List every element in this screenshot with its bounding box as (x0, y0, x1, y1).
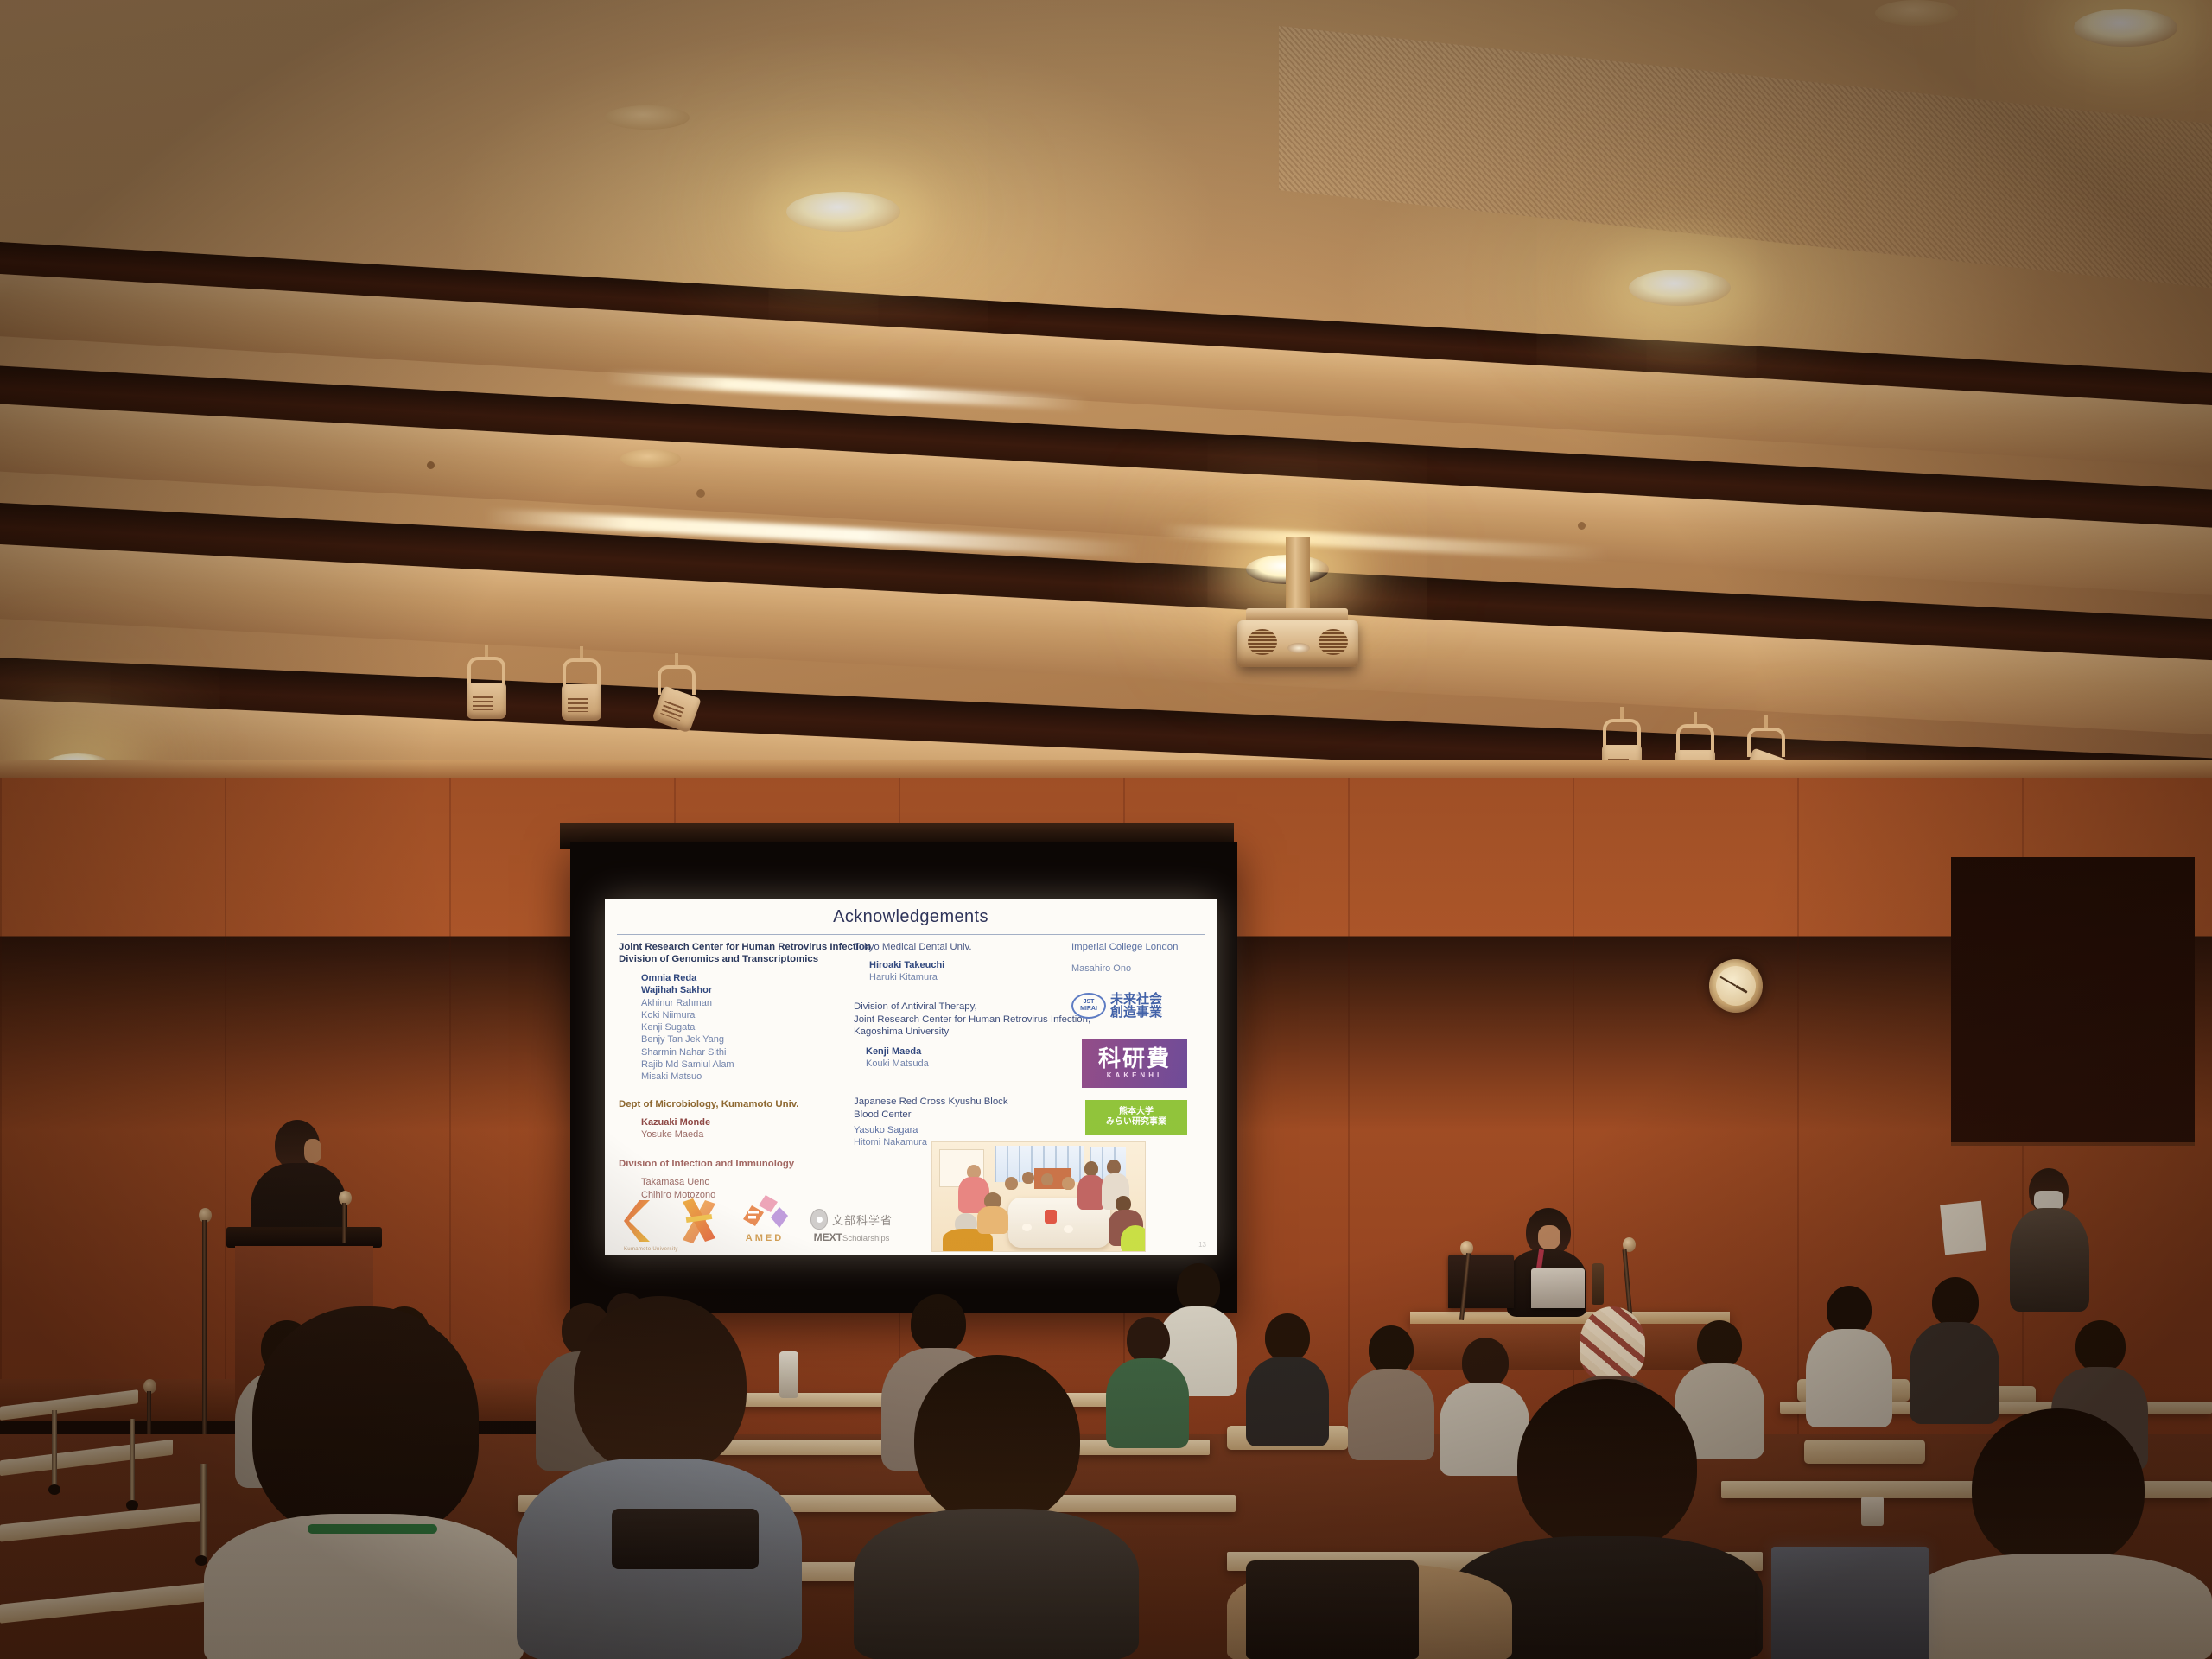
person-name: Kenji Sugata (641, 1021, 850, 1033)
mext-seal-icon (810, 1209, 828, 1230)
person-name: Kazuaki Monde (641, 1116, 850, 1128)
lanyard (308, 1524, 437, 1534)
audience-member-foreground (854, 1355, 1139, 1659)
person-name: Akhinur Rahman (641, 997, 850, 1009)
affiliation-heading: Dept of Microbiology, Kumamoto Univ. (619, 1098, 850, 1111)
slide-title-rule (617, 934, 1205, 935)
audience-head (2075, 1320, 2126, 1372)
photo-green-chair (1121, 1225, 1146, 1252)
audience-head (911, 1294, 966, 1353)
affiliation-heading: Japanese Red Cross Kyushu Block (854, 1096, 1070, 1109)
mext-acronym: MEXT (814, 1231, 842, 1243)
presentation-slide: Acknowledgements Joint Research Center f… (605, 899, 1217, 1255)
audience-member (1910, 1277, 1999, 1422)
audience-head (1369, 1325, 1414, 1374)
audience-hair-long (252, 1306, 479, 1538)
slide-column-middle: Tokyo Medical Dental Univ. Hiroaki Takeu… (854, 941, 1070, 1149)
affiliation-block: Tokyo Medical Dental Univ. Hiroaki Takeu… (854, 941, 1070, 983)
amed-mark-icon (741, 1193, 788, 1231)
person-name: Yosuke Maeda (641, 1128, 850, 1141)
affiliation-heading: Blood Center (854, 1109, 1070, 1122)
desk-leg (130, 1419, 135, 1503)
session-chair-face (1538, 1225, 1560, 1249)
audience-member-foreground (1910, 1408, 2212, 1659)
laptop-silver-lid (1531, 1268, 1585, 1308)
podium-microphone-stand (342, 1203, 346, 1243)
audience-member-foreground (517, 1296, 802, 1659)
audience-torso (204, 1514, 524, 1659)
jst-mirai-logo: JST MIRAI 未来社会 創造事業 (1071, 993, 1162, 1019)
affiliation-heading: Imperial College London (1071, 941, 1217, 954)
downlight-9-dim (620, 449, 681, 468)
mext-kanji: 文部科学省 (832, 1211, 893, 1228)
downlight-2 (786, 192, 900, 232)
photo-person (1041, 1173, 1053, 1185)
jst-kanji-line2: 創造事業 (1110, 1006, 1162, 1019)
standing-attendee-mask (2034, 1191, 2063, 1210)
cup-on-desk (1861, 1497, 1884, 1526)
track-spotlight-3 (657, 665, 696, 734)
person-name: Masahiro Ono (1071, 963, 1217, 975)
audience-head (1517, 1379, 1697, 1552)
photo-table-items (1064, 1225, 1073, 1233)
projector-vent-right (1319, 629, 1348, 655)
kakenhi-logo: 科研費 KAKENHI (1082, 1039, 1187, 1088)
podium-top (226, 1227, 382, 1248)
audience-head (1827, 1286, 1872, 1334)
audience-head (914, 1355, 1080, 1524)
photo-table-items (1022, 1224, 1032, 1231)
affiliation-heading: Division of Infection and Immunology (619, 1158, 850, 1171)
audience-head (1177, 1263, 1220, 1312)
mext-scholarships: Scholarships (842, 1234, 889, 1243)
kumamoto-university-caption: Kumamoto University (624, 1247, 678, 1252)
photo-person (1022, 1172, 1034, 1184)
slide-title: Acknowledgements (605, 907, 1217, 927)
sprinkler-head-1 (696, 489, 705, 498)
affiliation-block: Dept of Microbiology, Kumamoto Univ. Kaz… (619, 1098, 850, 1141)
downlight-1 (2074, 9, 2177, 47)
headscarf (1580, 1306, 1645, 1381)
downlight-7-dim (1875, 0, 1958, 26)
mext-logo: 文部科学省 MEXTScholarships (810, 1209, 893, 1243)
photo-person-body (977, 1206, 1008, 1234)
affiliation-heading: Joint Research Center for Human Retrovir… (854, 1014, 1070, 1027)
photo-person (1005, 1177, 1018, 1190)
person-name: Yasuko Sagara (854, 1124, 1070, 1136)
standing-attendee-torso (2010, 1208, 2089, 1312)
person-name: Misaki Matsuo (641, 1071, 850, 1083)
funder-logo-row: AMED 文部科学省 MEXTScholarships (624, 1193, 893, 1243)
audience-head (1265, 1313, 1310, 1362)
slide-column-right: Imperial College London Masahiro Ono (1071, 941, 1217, 975)
kumamoto-chevron-logo-icon (624, 1198, 657, 1243)
laptop-dark-lid (1448, 1255, 1514, 1308)
amed-logo: AMED (741, 1193, 788, 1243)
jst-acronym-line2: MIRAI (1080, 1006, 1097, 1013)
wall-clock (1709, 959, 1763, 1013)
ceiling-projector (1237, 605, 1358, 671)
group-photo (931, 1141, 1146, 1252)
bottle-on-desk (779, 1351, 798, 1398)
affiliation-block: Division of Antiviral Therapy, Joint Res… (854, 1001, 1070, 1070)
desk-caster (126, 1500, 138, 1510)
audience-member (1806, 1286, 1892, 1426)
alcove-rail (1951, 1142, 2195, 1146)
amed-label: AMED (746, 1233, 784, 1243)
kakenhi-kanji: 科研費 (1098, 1048, 1171, 1071)
audience-member-foreground (204, 1306, 524, 1659)
audience-torso (1806, 1329, 1892, 1427)
audience-torso (1910, 1554, 2212, 1659)
projector-vent-left (1248, 629, 1277, 655)
audience-torso (854, 1509, 1139, 1659)
audience-laptop-open (1771, 1547, 1929, 1659)
person-name: Kouki Matsuda (866, 1058, 1070, 1070)
person-name: Wajihah Sakhor (641, 984, 850, 996)
standing-attendee (2010, 1168, 2089, 1315)
projector-mount-pole (1286, 537, 1310, 612)
presenter-face (304, 1139, 321, 1163)
kumamoto-x-logo-icon (679, 1198, 719, 1243)
standing-attendee-document (1940, 1201, 1986, 1255)
shoulder-bag (1246, 1560, 1419, 1659)
laptop-silver (1531, 1268, 1585, 1308)
chair-back (1804, 1440, 1925, 1464)
laptop-dark (1448, 1255, 1514, 1308)
affiliation-block: Joint Research Center for Human Retrovir… (619, 941, 850, 1084)
photo-person (1084, 1161, 1098, 1176)
audience-head (1932, 1277, 1979, 1327)
mext-en-label: MEXTScholarships (814, 1231, 890, 1243)
desk-leg (52, 1410, 57, 1488)
kumamoto-mirai-line2: みらい研究事業 (1106, 1117, 1166, 1128)
audience-head (1697, 1320, 1742, 1369)
person-name: Kenji Maeda (866, 1046, 1070, 1058)
jst-mirai-ring-icon: JST MIRAI (1071, 993, 1106, 1019)
person-name: Hiroaki Takeuchi (869, 959, 1070, 971)
track-spotlight-1 (467, 657, 506, 726)
person-name: Sharmin Nahar Sithi (641, 1046, 850, 1058)
affiliation-heading: Division of Genomics and Transcriptomics (619, 953, 850, 965)
lecture-hall-scene: Acknowledgements Joint Research Center f… (0, 0, 2212, 1659)
person-name: Omnia Reda (641, 972, 850, 984)
slide-column-left: Joint Research Center for Human Retrovir… (619, 941, 850, 1201)
kumamoto-mirai-badge: 熊本大学 みらい研究事業 (1085, 1100, 1187, 1135)
ceiling-acoustic-panel (1279, 26, 2212, 292)
jst-acronym-line1: JST (1084, 999, 1095, 1006)
photo-person (1062, 1177, 1075, 1190)
track-spotlight-2 (562, 658, 601, 728)
audience-head (574, 1296, 747, 1476)
downlight-3 (1629, 270, 1731, 306)
photo-table-items (1045, 1210, 1057, 1224)
audience-head (1972, 1408, 2145, 1569)
water-bottle (1592, 1263, 1604, 1305)
projector-lens (1287, 643, 1310, 653)
wall-alcove-right (1951, 857, 2195, 1142)
affiliation-heading: Tokyo Medical Dental Univ. (854, 941, 1070, 954)
audience-head (1284, 1421, 1453, 1580)
affiliation-heading: Division of Antiviral Therapy, (854, 1001, 1070, 1014)
slide-number: 13 (1198, 1241, 1206, 1249)
ceiling (0, 0, 2212, 829)
affiliation-heading: Kagoshima University (854, 1026, 1070, 1039)
person-name: Koki Niimura (641, 1009, 850, 1021)
affiliation-heading: Joint Research Center for Human Retrovir… (619, 941, 850, 953)
kumamoto-mirai-line1: 熊本大学 (1119, 1107, 1154, 1117)
person-name: Benjy Tan Jek Yang (641, 1033, 850, 1046)
kakenhi-romaji: KAKENHI (1107, 1071, 1162, 1079)
sprinkler-head-2 (1578, 522, 1586, 530)
photo-person (1107, 1160, 1121, 1174)
sprinkler-head-3 (427, 461, 435, 469)
person-name: Rajib Md Samiul Alam (641, 1058, 850, 1071)
person-name: Haruki Kitamura (869, 971, 1070, 983)
downlight-8-dim (605, 105, 690, 130)
person-name: Takamasa Ueno (641, 1176, 850, 1188)
bag-on-desk (612, 1509, 759, 1569)
desk-caster (48, 1484, 60, 1495)
